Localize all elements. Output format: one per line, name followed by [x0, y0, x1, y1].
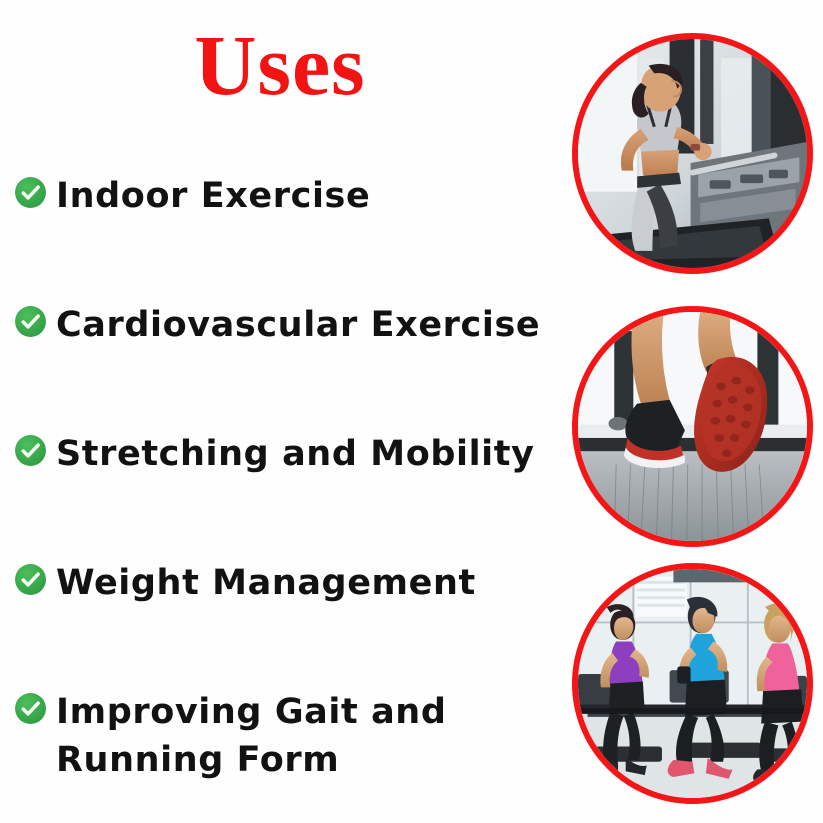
uses-list: Indoor Exercise Cardiovascular Exercise …	[12, 172, 560, 784]
list-item: Stretching and Mobility	[12, 430, 560, 478]
green-check-circle-icon	[14, 176, 47, 209]
photo-image	[578, 39, 807, 268]
list-item-label: Weight Management	[56, 559, 560, 607]
list-item-label: Indoor Exercise	[56, 172, 560, 220]
green-check-circle-icon	[14, 563, 47, 596]
infographic-page: Uses Indoor Exercise	[0, 0, 823, 823]
green-check-circle-icon	[14, 692, 47, 725]
list-item: Indoor Exercise	[12, 172, 560, 220]
photo-group-treadmills	[572, 563, 813, 804]
list-item-label: Cardiovascular Exercise	[56, 301, 560, 349]
list-item: Weight Management	[12, 559, 560, 607]
page-title: Uses	[0, 22, 560, 108]
list-item: Cardiovascular Exercise	[12, 301, 560, 349]
photo-image	[578, 312, 807, 541]
green-check-circle-icon	[14, 434, 47, 467]
photo-running-shoes-closeup	[572, 306, 813, 547]
list-item-label: Stretching and Mobility	[56, 430, 560, 478]
list-item-label: Improving Gait and Running Form	[56, 688, 560, 784]
list-item: Improving Gait and Running Form	[12, 688, 560, 784]
photo-image	[578, 569, 807, 798]
photo-woman-running-treadmill	[572, 33, 813, 274]
green-check-circle-icon	[14, 305, 47, 338]
